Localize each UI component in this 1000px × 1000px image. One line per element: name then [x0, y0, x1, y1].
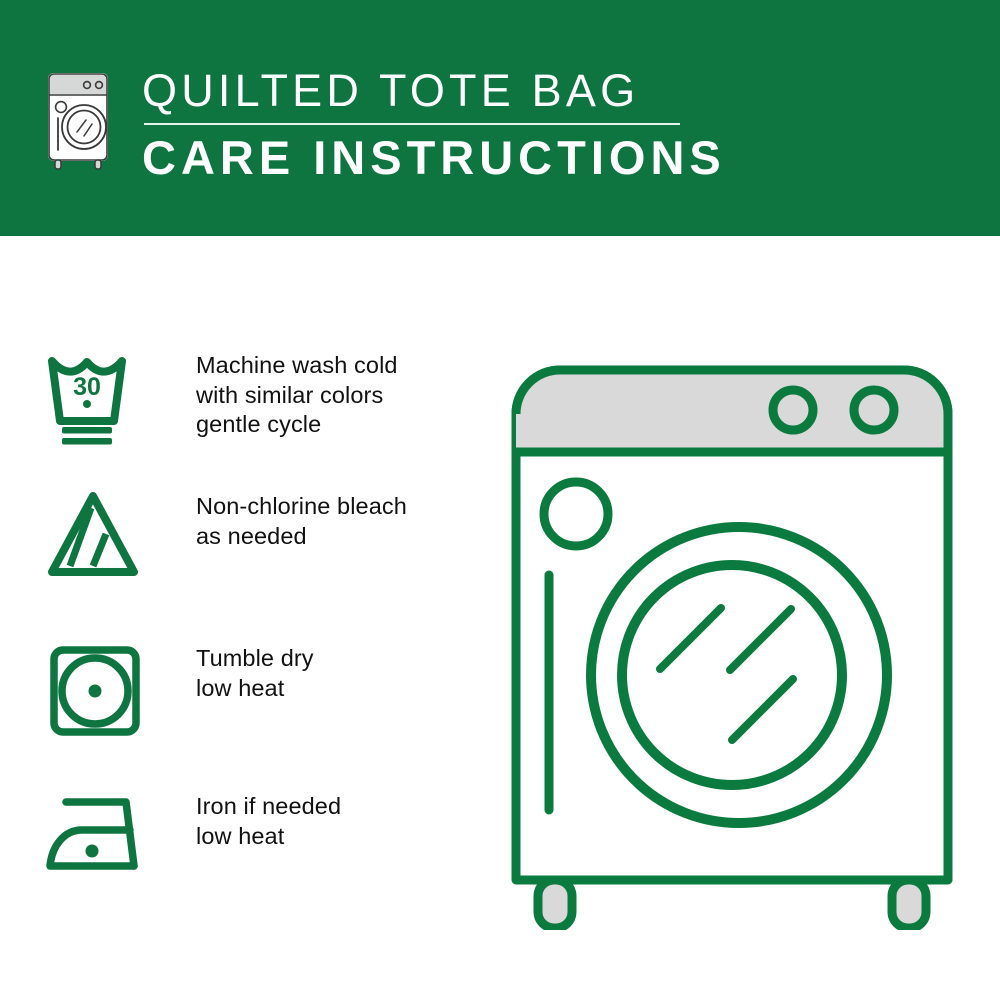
washer-leg-right: [892, 880, 926, 928]
page-title-product: QUILTED TOTE BAG: [142, 66, 726, 116]
care-symbol-slot: [46, 642, 166, 742]
washer-control-panel: [516, 370, 948, 452]
care-symbol-slot: [46, 490, 166, 585]
care-text-bleach: Non-chlorine bleach as needed: [196, 490, 407, 551]
care-text-iron: Iron if needed low heat: [196, 790, 341, 851]
care-row-machine-wash: 30 Machine wash cold with similar colors…: [46, 349, 398, 449]
wash-temperature-value: 30: [73, 373, 101, 401]
header-content: QUILTED TOTE BAG CARE INSTRUCTIONS: [44, 66, 726, 184]
washer-leg-left: [538, 880, 572, 928]
wash-tub-symbol: 30: [46, 349, 156, 449]
washing-machine-icon: [44, 70, 116, 172]
care-symbol-slot: [46, 790, 166, 880]
title-divider: [144, 123, 680, 125]
care-text-machine-wash: Machine wash cold with similar colors ge…: [196, 349, 398, 440]
page-title-care: CARE INSTRUCTIONS: [142, 132, 726, 184]
care-instruction-list: 30 Machine wash cold with similar colors…: [0, 236, 480, 1000]
front-load-washing-machine-illustration: [492, 330, 972, 930]
header-banner: QUILTED TOTE BAG CARE INSTRUCTIONS: [0, 0, 1000, 236]
care-text-tumble-dry: Tumble dry low heat: [196, 642, 314, 703]
care-row-bleach: Non-chlorine bleach as needed: [46, 490, 407, 585]
iron-symbol: [46, 790, 156, 880]
care-symbol-slot: 30: [46, 349, 166, 449]
tumble-dry-symbol: [46, 642, 156, 742]
header-title-group: QUILTED TOTE BAG CARE INSTRUCTIONS: [142, 66, 726, 184]
bleach-triangle-symbol: [46, 490, 156, 585]
care-row-iron: Iron if needed low heat: [46, 790, 341, 880]
care-row-tumble-dry: Tumble dry low heat: [46, 642, 314, 742]
